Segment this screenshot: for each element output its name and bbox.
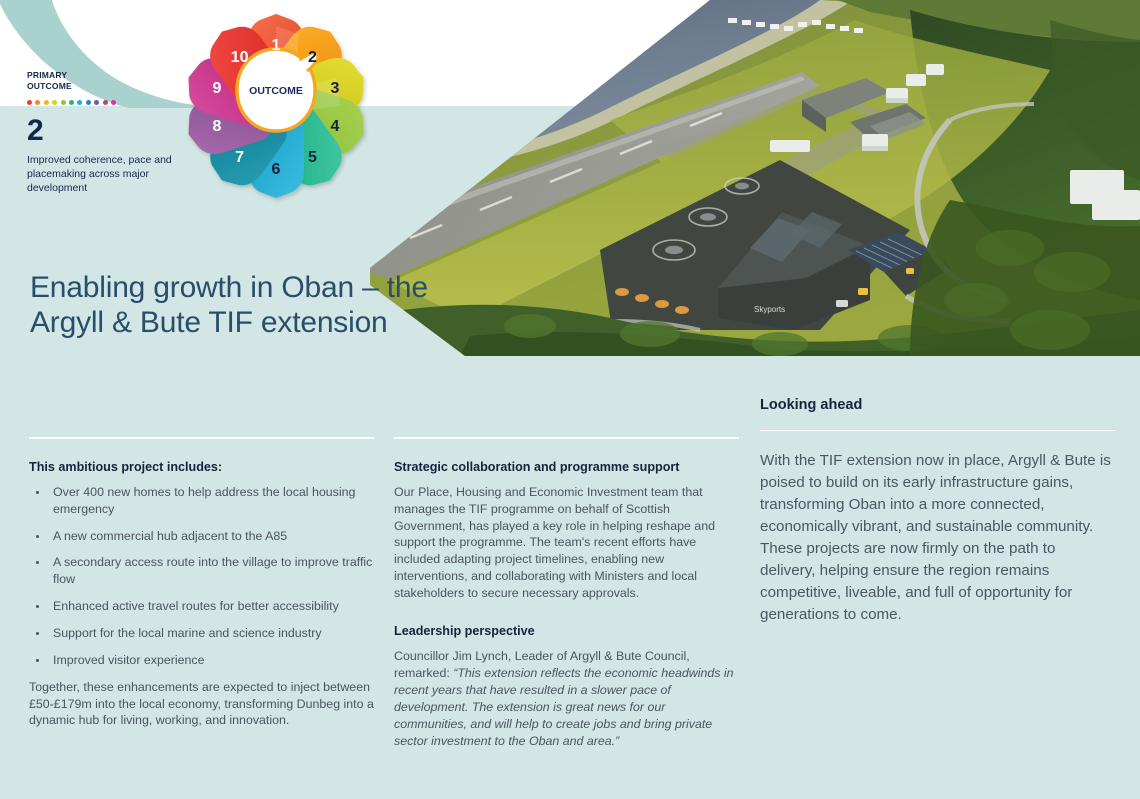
page: Skyports <box>0 0 1140 799</box>
project-includes-item: Over 400 new homes to help address the l… <box>29 484 374 518</box>
flower-petal-number-8: 8 <box>213 118 222 135</box>
primary-outcome-block: PRIMARY OUTCOME 2 Improved coherence, pa… <box>27 70 187 196</box>
primary-outcome-number: 2 <box>27 116 187 146</box>
outcome-dot-5 <box>61 100 66 105</box>
primary-outcome-description: Improved coherence, pace and placemaking… <box>27 154 187 196</box>
project-includes-list: Over 400 new homes to help address the l… <box>29 484 374 669</box>
outcome-dot-4 <box>52 100 57 105</box>
outcome-dot-11 <box>111 100 116 105</box>
outcome-dot-7 <box>77 100 82 105</box>
flower-petal-number-6: 6 <box>272 161 281 178</box>
divider-left <box>29 437 374 439</box>
primary-outcome-label: PRIMARY OUTCOME <box>27 70 187 91</box>
outcomes-flower-graphic: OUTCOME 12345678910 <box>172 2 380 214</box>
outcome-dot-row <box>27 100 187 105</box>
project-includes-item: Support for the local marine and science… <box>29 625 374 642</box>
page-title: Enabling growth in Oban – the Argyll & B… <box>30 270 450 341</box>
project-includes-item: A secondary access route into the villag… <box>29 554 374 588</box>
outcome-dot-8 <box>86 100 91 105</box>
outcome-dot-1 <box>27 100 32 105</box>
right-body: With the TIF extension now in place, Arg… <box>760 450 1115 625</box>
primary-outcome-label-line2: OUTCOME <box>27 81 72 91</box>
flower-petal-number-1: 1 <box>272 37 281 54</box>
middle-body-2: Councillor Jim Lynch, Leader of Argyll &… <box>394 648 739 749</box>
flower-petal-number-5: 5 <box>308 149 317 166</box>
column-right: Looking ahead With the TIF extension now… <box>760 396 1115 625</box>
project-includes-item: Improved visitor experience <box>29 652 374 669</box>
flower-petal-number-9: 9 <box>213 80 222 97</box>
flower-petal-number-3: 3 <box>331 80 340 97</box>
divider-right <box>760 430 1115 432</box>
flower-center-label: OUTCOME <box>249 85 303 97</box>
outcome-dot-9 <box>94 100 99 105</box>
leadership-block: Leadership perspective Councillor Jim Ly… <box>394 623 739 750</box>
flower-petal-number-10: 10 <box>231 49 249 66</box>
project-includes-item: A new commercial hub adjacent to the A85 <box>29 528 374 545</box>
outcome-dot-3 <box>44 100 49 105</box>
right-heading: Looking ahead <box>760 396 1115 415</box>
primary-outcome-label-line1: PRIMARY <box>27 70 67 80</box>
outcome-dot-2 <box>35 100 40 105</box>
left-closing-paragraph: Together, these enhancements are expecte… <box>29 679 374 730</box>
middle-body-1: Our Place, Housing and Economic Investme… <box>394 484 739 602</box>
middle-heading-1: Strategic collaboration and programme su… <box>394 459 739 475</box>
column-left: This ambitious project includes: Over 40… <box>29 437 374 729</box>
divider-middle <box>394 437 739 439</box>
flower-petal-number-2: 2 <box>308 49 317 66</box>
column-middle: Strategic collaboration and programme su… <box>394 437 739 749</box>
project-includes-item: Enhanced active travel routes for better… <box>29 598 374 615</box>
svg-text:Skyports: Skyports <box>754 305 785 314</box>
middle-heading-2: Leadership perspective <box>394 623 739 639</box>
left-heading: This ambitious project includes: <box>29 459 374 475</box>
outcome-dot-10 <box>103 100 108 105</box>
flower-petal-number-4: 4 <box>331 118 340 135</box>
flower-petal-number-7: 7 <box>235 149 244 166</box>
outcome-dot-6 <box>69 100 74 105</box>
